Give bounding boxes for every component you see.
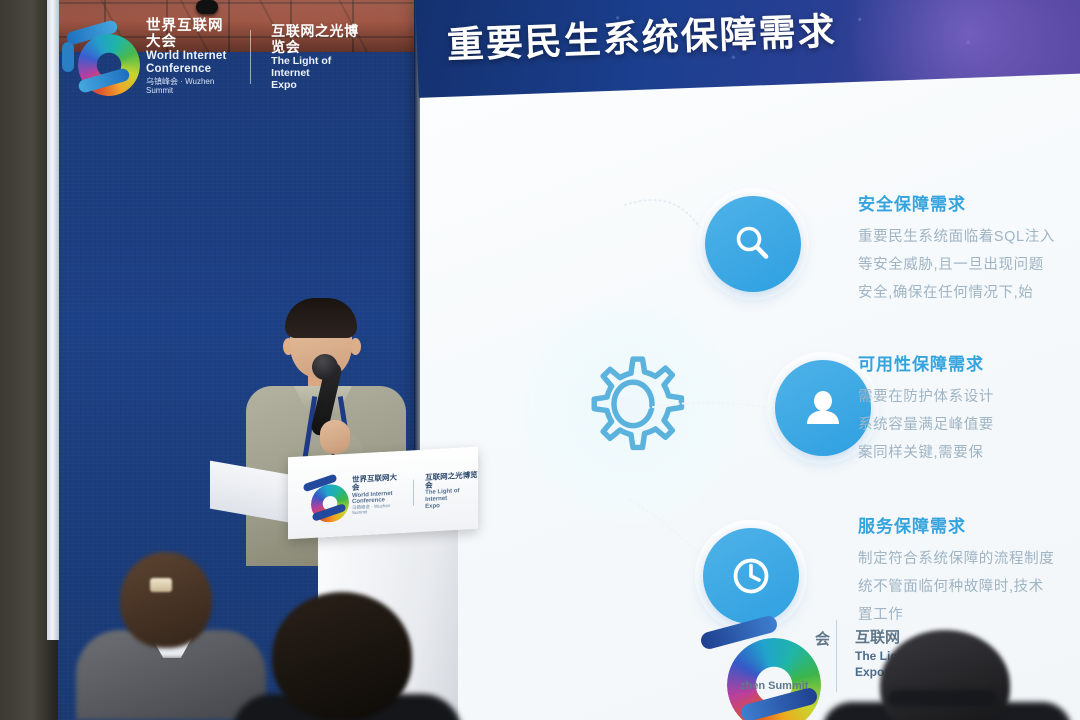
conference-photo: 世界互联网大会 World Internet Conference 乌镇峰会 ·… (0, 0, 1080, 720)
venue-banner-right-text: 互联网之光博览会 The Light of Internet Expo (271, 23, 362, 91)
logo-swoosh-left (62, 42, 74, 72)
venue-banner-divider (250, 30, 251, 84)
footer-divider (836, 620, 837, 692)
podium-logo-plate: 世界互联网大会 World Internet Conference 乌镇峰会 ·… (300, 458, 480, 530)
block-line: 重要民生系统面临着SQL注入 (858, 224, 1080, 252)
block-line: 等安全威胁,且一旦出现问题 (858, 252, 1080, 280)
expo-en-title-line1: The Light of Internet (271, 55, 362, 79)
block-line: 安全,确保在任何情况下,始 (858, 280, 1080, 308)
venue-cn-title: 世界互联网大会 (146, 18, 230, 50)
requirement-block-availability: 可用性保障需求 需要在防护体系设计 系统容量满足峰值要 案同样关键,需要保 (858, 350, 1080, 467)
footer-cn-right: 互联网 (855, 628, 905, 648)
search-icon (729, 220, 777, 268)
block-line: 需要在防护体系设计 (858, 384, 1080, 412)
podium-ring-logo-icon (300, 473, 346, 522)
speaker-hand (320, 420, 350, 454)
spotlight-icon (196, 0, 218, 14)
eyeglasses-icon (888, 690, 996, 706)
clock-node[interactable] (703, 528, 799, 624)
venue-banner-left-text: 世界互联网大会 World Internet Conference 乌镇峰会 ·… (146, 18, 230, 96)
audience-member-head (272, 592, 412, 720)
wic-ring-logo-icon (62, 20, 136, 94)
block-line: 系统容量满足峰值要 (858, 412, 1080, 440)
block-heading: 安全保障需求 (858, 190, 1080, 215)
block-heading: 可用性保障需求 (858, 350, 1080, 375)
gear-icon (565, 340, 701, 476)
venue-banner: 世界互联网大会 World Internet Conference 乌镇峰会 ·… (62, 14, 362, 100)
requirement-block-security: 安全保障需求 重要民生系统面临着SQL注入 等安全威胁,且一旦出现问题 安全,确… (858, 190, 1080, 307)
block-line: 置工作 (858, 602, 1080, 630)
user-node[interactable] (775, 360, 871, 456)
block-line: 统不管面临何种故障时,技术 (858, 574, 1080, 602)
user-icon (799, 384, 847, 432)
footer-summit-text: zhen Summit (740, 680, 808, 692)
projection-screen: 安全保障需求 重要民生系统面临着SQL注入 等安全威胁,且一旦出现问题 安全,确… (420, 0, 1080, 720)
block-heading: 服务保障需求 (858, 512, 1080, 537)
venue-subtitle: 乌镇峰会 · Wuzhen Summit (146, 78, 230, 96)
block-line: 案同样关键,需要保 (858, 440, 1080, 468)
podium-left-text: 世界互联网大会 World Internet Conference 乌镇峰会 ·… (352, 474, 402, 516)
venue-en-title-line1: World Internet (146, 50, 230, 63)
hair-clip (150, 578, 172, 592)
podium-divider (413, 480, 414, 506)
search-node[interactable] (705, 196, 801, 292)
slide-footer-logo-icon (682, 612, 832, 720)
footer-cn-left: 会 (815, 628, 830, 649)
requirement-block-service: 服务保障需求 制定符合系统保障的流程制度 统不管面临何种故障时,技术 置工作 (858, 512, 1080, 629)
podium-right-text: 互联网之光博览会 The Light of Internet Expo (425, 471, 480, 510)
clock-icon (726, 551, 776, 601)
podium-subtitle: 乌镇峰会 · Wuzhen Summit (352, 503, 402, 516)
block-line: 制定符合系统保障的流程制度 (858, 546, 1080, 574)
pillar-light-strip (47, 0, 59, 640)
audience-member-head (120, 552, 212, 648)
expo-cn-title: 互联网之光博览会 (271, 23, 362, 55)
expo-en-title-line2: Expo (271, 79, 362, 91)
speaker-hair (285, 298, 357, 338)
venue-en-title-line2: Conference (146, 63, 230, 76)
